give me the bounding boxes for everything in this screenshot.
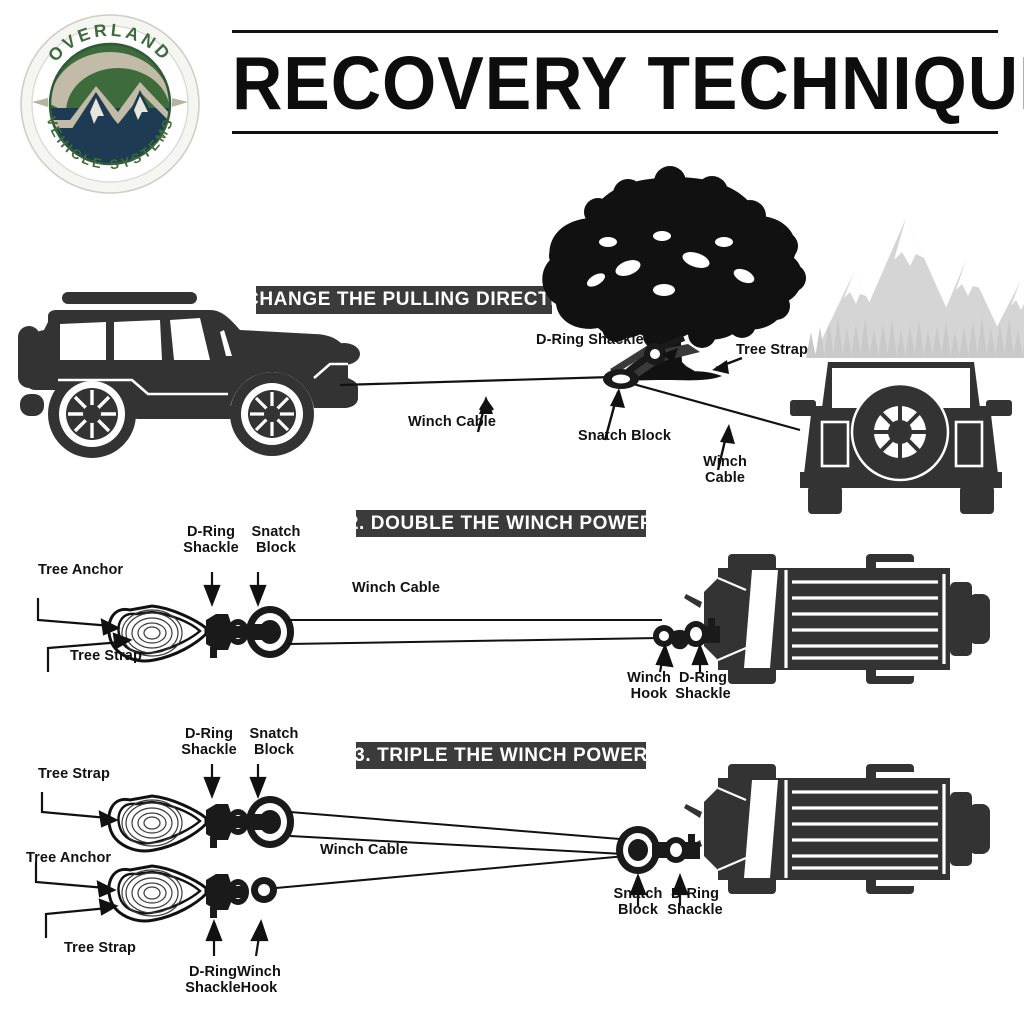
title-rule-top: [232, 30, 998, 33]
label-s1-tree-strap: Tree Strap: [736, 342, 808, 358]
winch-hook-s2: [653, 625, 689, 649]
section-1-rigging: [0, 330, 1024, 500]
label-s3-snatch-block-vehicle: Snatch Block: [610, 886, 666, 918]
section-2-header-bar: 2. DOUBLE THE WINCH POWER: [356, 510, 646, 537]
d-ring-shackle-s1: [644, 338, 684, 365]
winch-cable-line-right: [626, 382, 800, 430]
label-s2-snatch-block: Snatch Block: [248, 524, 304, 556]
snatch-block-upper-s3: [246, 796, 294, 848]
section-3-rigging: [0, 758, 1024, 1008]
label-s2-tree-anchor: Tree Anchor: [38, 562, 123, 578]
label-s1-snatch-block: Snatch Block: [578, 428, 671, 444]
page-title-block: RECOVERY TECHNIQUES: [232, 30, 998, 134]
label-s3-winch-hook: Winch Hook: [232, 964, 286, 996]
label-s2-d-ring-shackle: D-Ring Shackle: [180, 524, 242, 556]
label-s1-winch-cable-left: Winch Cable: [408, 414, 496, 430]
d-ring-shackle-s2: [206, 614, 252, 658]
page-title: RECOVERY TECHNIQUES: [232, 37, 944, 129]
infographic-canvas: OVERLAND VEHICLE SYSTEMS RECOVERY TECHNI…: [0, 0, 1024, 1024]
d-ring-shackle-vehicle-s3: [664, 834, 700, 863]
label-s3-snatch-block-top: Snatch Block: [246, 726, 302, 758]
label-s3-tree-anchor: Tree Anchor: [26, 850, 111, 866]
label-s2-d-ring-shackle-vehicle: D-Ring Shackle: [672, 670, 734, 702]
label-s3-d-ring-shackle-vehicle: D-Ring Shackle: [664, 886, 726, 918]
winch-cable-upper-s3: [290, 812, 632, 840]
d-ring-shackle-upper-s3: [206, 804, 252, 848]
logo-svg: OVERLAND VEHICLE SYSTEMS: [18, 12, 202, 196]
winch-cable-lower-s3: [276, 856, 626, 888]
d-ring-shackle-vehicle-s2: [684, 618, 720, 647]
d-ring-shackle-lower-s3: [206, 874, 249, 918]
tree-anchor-lower-s3: [109, 866, 206, 921]
label-s1-d-ring-shackle: D-Ring Shackle: [536, 332, 644, 348]
winch-hook-s3: [251, 877, 277, 903]
label-s3-winch-cable: Winch Cable: [320, 842, 408, 858]
title-rule-bottom: [232, 131, 998, 134]
label-s2-tree-strap: Tree Strap: [70, 648, 142, 664]
label-s2-winch-cable: Winch Cable: [352, 580, 440, 596]
snatch-block-s1: [603, 356, 650, 389]
tree-anchor-upper-s3: [109, 796, 206, 851]
snatch-block-s2: [246, 606, 294, 658]
winch-cable-lower-s2: [288, 638, 660, 644]
label-s1-winch-cable-right: Winch Cable: [694, 454, 756, 486]
overland-vehicle-systems-logo: OVERLAND VEHICLE SYSTEMS: [18, 12, 202, 196]
label-s3-d-ring-shackle-top: D-Ring Shackle: [178, 726, 240, 758]
label-s3-tree-strap-bottom: Tree Strap: [64, 940, 136, 956]
label-s3-tree-strap-top: Tree Strap: [38, 766, 110, 782]
section-2-rigging: [0, 548, 1024, 698]
winch-cable-line-left: [340, 377, 612, 385]
label-s2-winch-hook: Winch Hook: [622, 670, 676, 702]
callout-arrows-s1: [478, 348, 742, 470]
